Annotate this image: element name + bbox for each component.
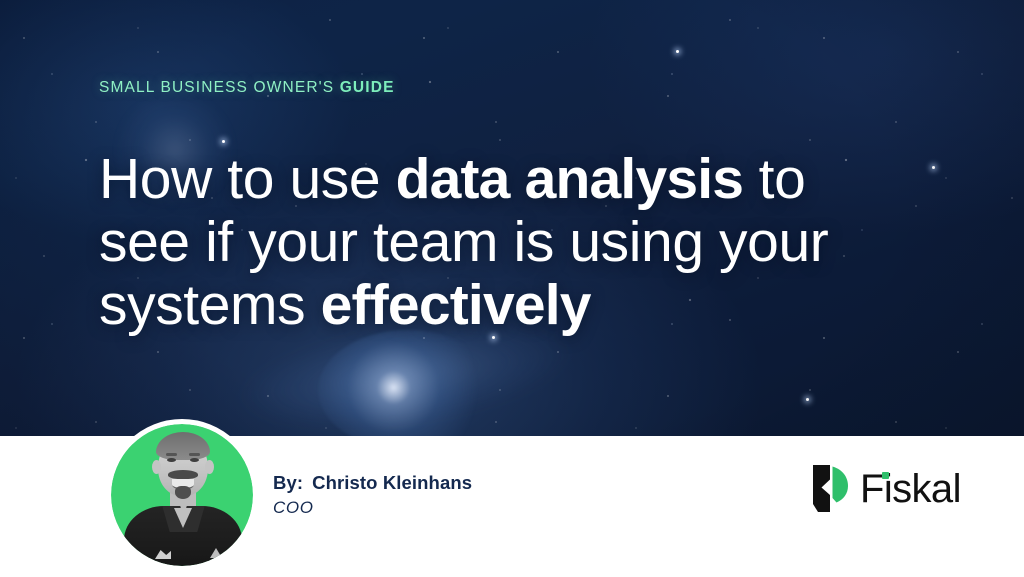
avatar-goatee xyxy=(175,486,191,499)
by-label: By: xyxy=(273,472,303,493)
avatar-ear-right xyxy=(205,460,214,474)
bright-star xyxy=(806,398,809,401)
author-name: Christo Kleinhans xyxy=(312,472,472,493)
avatar-photo xyxy=(111,424,253,566)
author-role: COO xyxy=(273,496,472,520)
avatar-hair xyxy=(156,432,210,460)
avatar-brow-left xyxy=(166,453,177,456)
avatar-eye-left xyxy=(167,458,176,462)
avatar-eye-right xyxy=(190,458,199,462)
avatar-mustache xyxy=(168,470,198,479)
fiskal-i-dot-accent xyxy=(882,472,889,479)
avatar-brow-right xyxy=(189,453,200,456)
avatar-ear-left xyxy=(152,460,161,474)
author-name-row: By:Christo Kleinhans xyxy=(273,471,472,495)
avatar xyxy=(106,419,258,571)
bright-star xyxy=(676,50,679,53)
fiskal-logo[interactable]: Fiskal xyxy=(811,465,961,512)
headline-line3-bold: effectively xyxy=(321,273,591,337)
eyebrow-emphasis-text: GUIDE xyxy=(340,79,395,96)
bright-star xyxy=(222,140,225,143)
headline-line1-tail: to xyxy=(743,147,805,211)
headline-line1-light: How to use xyxy=(99,147,396,211)
eyebrow-lead-text: SMALL BUSINESS OWNER'S xyxy=(99,79,340,96)
page-title: How to use data analysis tosee if your t… xyxy=(99,148,939,337)
cover-canvas: SMALL BUSINESS OWNER'S GUIDE How to use … xyxy=(0,0,1024,577)
fiskal-wordmark: Fiskal xyxy=(860,467,961,511)
headline-line3-light: systems xyxy=(99,273,321,337)
fiskal-logo-mark-icon xyxy=(811,465,849,512)
fiskal-wordmark-container: Fiskal xyxy=(860,469,961,509)
headline-line1-bold: data analysis xyxy=(396,147,744,211)
headline-line2: see if your team is using your xyxy=(99,210,828,274)
eyebrow-label: SMALL BUSINESS OWNER'S GUIDE xyxy=(99,79,395,97)
nebula-core-glow xyxy=(318,330,498,436)
byline: By:Christo Kleinhans COO xyxy=(273,471,472,520)
